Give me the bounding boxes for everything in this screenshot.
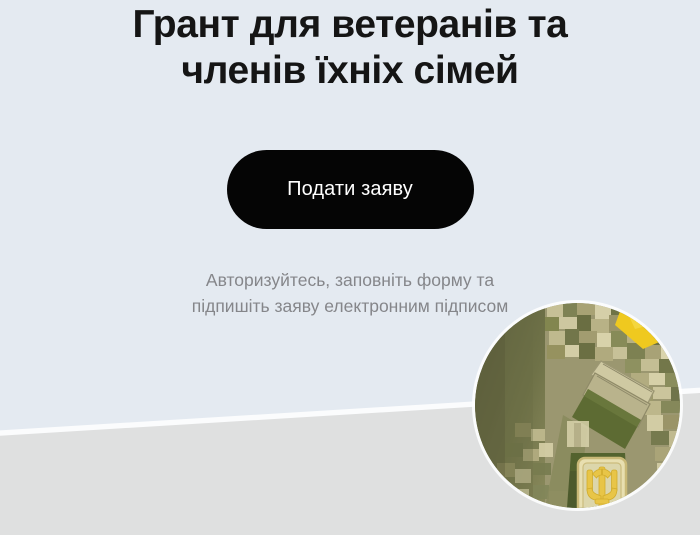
hero-section: Грант для ветеранів та членів їхніх сіме… <box>0 0 700 319</box>
soldier-uniform-illustration <box>475 303 680 508</box>
cta-container: Подати заяву <box>0 150 700 229</box>
page-root: Грант для ветеранів та членів їхніх сіме… <box>0 0 700 535</box>
soldier-uniform-photo <box>475 303 680 508</box>
page-title: Грант для ветеранів та членів їхніх сіме… <box>0 2 700 94</box>
submit-application-button[interactable]: Подати заяву <box>227 150 474 229</box>
